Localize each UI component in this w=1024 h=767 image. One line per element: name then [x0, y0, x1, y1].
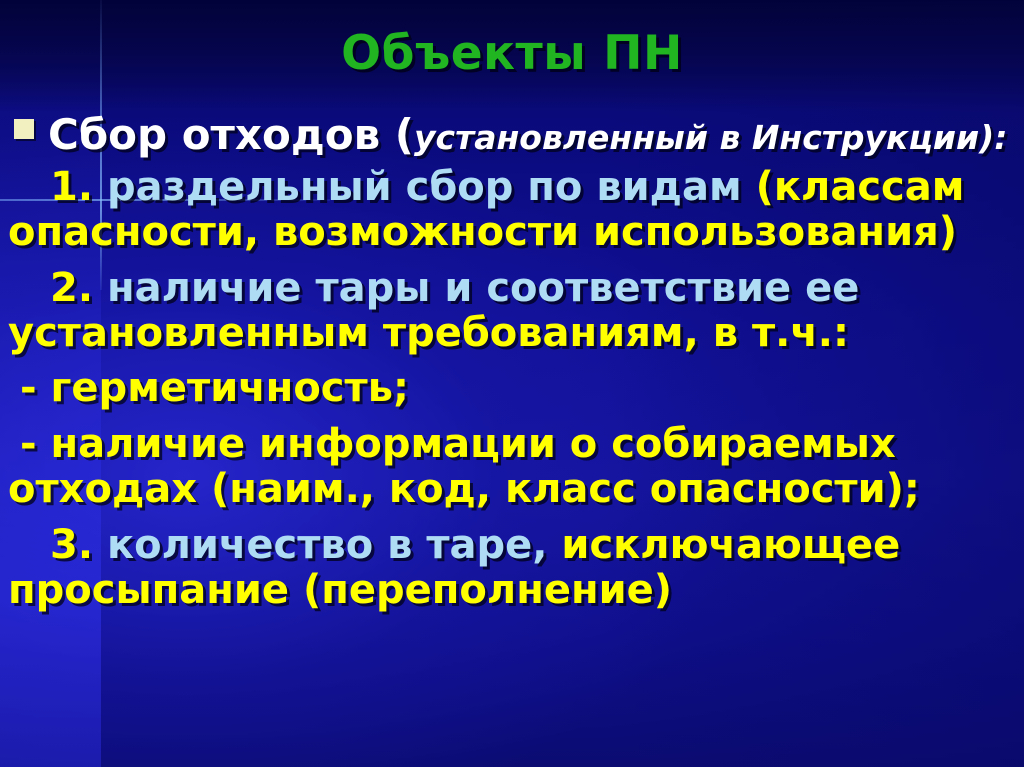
item-3-blue-text: количество в таре,	[93, 522, 561, 568]
numbered-item-2: 2. наличие тары и соответствие ее устано…	[0, 266, 1024, 357]
item-1-number: 1.	[50, 164, 93, 210]
item-2-yellow-text: установленным требованиям, в т.ч.:	[8, 310, 849, 356]
dash-item-1-text: - герметичность;	[20, 365, 409, 411]
dash-item-2: - наличие информации о собираемых отхода…	[0, 422, 1024, 513]
square-bullet-icon	[14, 119, 34, 139]
numbered-item-3: 3. количество в таре, исключающее просып…	[0, 523, 1024, 614]
item-3-number: 3.	[50, 522, 93, 568]
bullet-italic-text: установленный в Инструкции):	[414, 118, 1007, 157]
item-2-number: 2.	[50, 265, 93, 311]
bullet-main-text: Сбор отходов (	[48, 110, 414, 159]
item-2-blue-text: наличие тары и соответствие ее	[93, 265, 859, 311]
numbered-item-1: 1. раздельный сбор по видам (классам опа…	[0, 165, 1024, 256]
presentation-slide: Объекты ПН Сбор отходов (установленный в…	[0, 0, 1024, 767]
dash-item-2-text: - наличие информации о собираемых отхода…	[8, 421, 920, 512]
item-1-blue-text: раздельный сбор по видам	[93, 164, 756, 210]
bullet-list-item: Сбор отходов (установленный в Инструкции…	[0, 114, 1024, 157]
dash-item-1: - герметичность;	[0, 366, 1024, 411]
slide-title: Объекты ПН	[0, 26, 1024, 81]
slide-body: Сбор отходов (установленный в Инструкции…	[0, 114, 1024, 613]
